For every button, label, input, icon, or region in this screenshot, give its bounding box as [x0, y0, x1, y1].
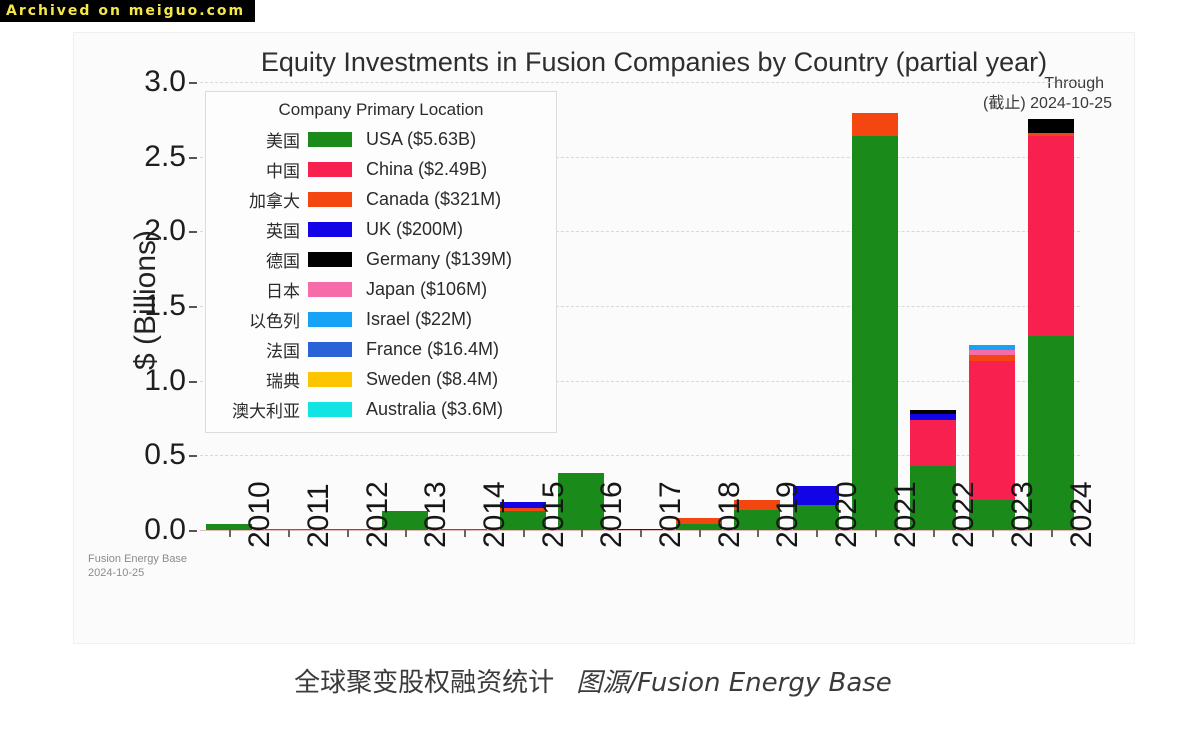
x-axis-tick-label: 2024 — [1065, 481, 1099, 548]
x-axis-tick-mark — [229, 530, 231, 537]
source-note-line2: 2024-10-25 — [88, 566, 187, 580]
legend-item-label: Canada ($321M) — [352, 189, 501, 210]
legend-item-chinese-label: 德国 — [214, 247, 308, 272]
legend-item[interactable]: 加拿大Canada ($321M) — [214, 184, 548, 214]
legend-item-label: Sweden ($8.4M) — [352, 369, 498, 390]
x-axis-tick-mark — [875, 530, 877, 537]
legend-rows: 美国USA ($5.63B)中国China ($2.49B)加拿大Canada … — [214, 124, 548, 424]
legend-item-label: France ($16.4M) — [352, 339, 499, 360]
caption-chinese: 全球聚变股权融资统计 — [294, 668, 554, 698]
bar-segment — [852, 136, 898, 530]
x-axis-tick-mark — [581, 530, 583, 537]
legend-color-swatch — [308, 342, 352, 357]
legend-item[interactable]: 以色列Israel ($22M) — [214, 304, 548, 334]
y-axis-tick-label: 0.0 — [144, 513, 200, 547]
legend-color-swatch — [308, 222, 352, 237]
x-axis-tick-mark — [757, 530, 759, 537]
x-axis-tick-mark — [699, 530, 701, 537]
x-axis-tick-mark — [288, 530, 290, 537]
legend-color-swatch — [308, 252, 352, 267]
x-axis-tick-label: 2011 — [302, 483, 336, 548]
legend-item[interactable]: 德国Germany ($139M) — [214, 244, 548, 274]
legend-color-swatch — [308, 312, 352, 327]
legend-item-chinese-label: 加拿大 — [214, 187, 308, 212]
legend-item-label: USA ($5.63B) — [352, 129, 476, 150]
legend-item-chinese-label: 中国 — [214, 157, 308, 182]
source-note-line1: Fusion Energy Base — [88, 552, 187, 566]
bar-segment — [969, 361, 1015, 500]
legend-color-swatch — [308, 132, 352, 147]
legend-item[interactable]: 澳大利亚Australia ($3.6M) — [214, 394, 548, 424]
chart-figure: Equity Investments in Fusion Companies b… — [74, 33, 1134, 643]
x-axis-tick-label: 2013 — [419, 481, 453, 548]
legend-item-label: Germany ($139M) — [352, 249, 512, 270]
legend-item-label: Australia ($3.6M) — [352, 399, 503, 420]
x-axis-tick-label: 2012 — [361, 481, 395, 548]
bar-segment — [1028, 119, 1074, 132]
legend-item[interactable]: 美国USA ($5.63B) — [214, 124, 548, 154]
x-axis-tick-label: 2023 — [1006, 481, 1040, 548]
legend-color-swatch — [308, 372, 352, 387]
x-axis-tick-label: 2019 — [771, 481, 805, 548]
chart-title: Equity Investments in Fusion Companies b… — [224, 47, 1084, 78]
legend-item-label: Japan ($106M) — [352, 279, 487, 300]
legend-color-swatch — [308, 192, 352, 207]
x-axis-tick-label: 2020 — [830, 481, 864, 548]
archive-watermark-banner: Archived on meiguo.com — [0, 0, 255, 22]
legend-item-chinese-label: 瑞典 — [214, 367, 308, 392]
x-axis-tick-mark — [347, 530, 349, 537]
x-axis-tick-label: 2014 — [478, 481, 512, 548]
y-axis-tick-label: 0.5 — [144, 438, 200, 472]
x-axis-tick-mark — [933, 530, 935, 537]
x-axis-tick-label: 2018 — [713, 481, 747, 548]
x-axis-tick-label: 2017 — [654, 481, 688, 548]
legend-title: Company Primary Location — [214, 98, 548, 124]
legend-item-chinese-label: 英国 — [214, 217, 308, 242]
bar-stack[interactable] — [852, 113, 898, 530]
bar-segment — [852, 113, 898, 135]
bar-stack[interactable] — [1028, 119, 1074, 530]
legend-item-label: China ($2.49B) — [352, 159, 487, 180]
legend-item[interactable]: 日本Japan ($106M) — [214, 274, 548, 304]
caption-source: 图源/Fusion Energy Base — [576, 668, 892, 698]
x-axis-tick-mark — [405, 530, 407, 537]
legend-item-chinese-label: 美国 — [214, 127, 308, 152]
legend-color-swatch — [308, 282, 352, 297]
legend-item[interactable]: 法国France ($16.4M) — [214, 334, 548, 364]
x-axis-tick-mark — [992, 530, 994, 537]
x-axis-tick-label: 2021 — [889, 481, 923, 548]
bar-segment — [1028, 136, 1074, 336]
y-axis-tick-label: 2.0 — [144, 214, 200, 248]
legend-color-swatch — [308, 402, 352, 417]
legend-item[interactable]: 中国China ($2.49B) — [214, 154, 548, 184]
bar-segment — [969, 355, 1015, 362]
y-axis-tick-label: 1.5 — [144, 289, 200, 323]
chart-legend: Company Primary Location 美国USA ($5.63B)中… — [205, 91, 557, 433]
y-axis-tick-label: 3.0 — [144, 65, 200, 99]
legend-item-label: UK ($200M) — [352, 219, 463, 240]
legend-item-chinese-label: 以色列 — [214, 307, 308, 332]
x-axis-tick-label: 2010 — [243, 481, 277, 548]
bar-segment — [910, 420, 956, 466]
legend-color-swatch — [308, 162, 352, 177]
x-axis-tick-label: 2016 — [595, 481, 629, 548]
y-axis-tick-label: 1.0 — [144, 364, 200, 398]
legend-item[interactable]: 英国UK ($200M) — [214, 214, 548, 244]
x-axis-tick-mark — [1051, 530, 1053, 537]
legend-item-label: Israel ($22M) — [352, 309, 472, 330]
y-axis-tick-label: 2.5 — [144, 140, 200, 174]
legend-item-chinese-label: 日本 — [214, 277, 308, 302]
legend-item-chinese-label: 法国 — [214, 337, 308, 362]
figure-caption: 全球聚变股权融资统计图源/Fusion Energy Base — [0, 662, 1186, 699]
x-axis-tick-mark — [816, 530, 818, 537]
legend-item[interactable]: 瑞典Sweden ($8.4M) — [214, 364, 548, 394]
x-axis-tick-label: 2015 — [537, 481, 571, 548]
x-axis-tick-mark — [640, 530, 642, 537]
x-axis-tick-mark — [523, 530, 525, 537]
source-note: Fusion Energy Base 2024-10-25 — [88, 552, 187, 581]
x-axis-tick-mark — [464, 530, 466, 537]
x-axis-tick-label: 2022 — [947, 481, 981, 548]
legend-item-chinese-label: 澳大利亚 — [214, 397, 308, 422]
